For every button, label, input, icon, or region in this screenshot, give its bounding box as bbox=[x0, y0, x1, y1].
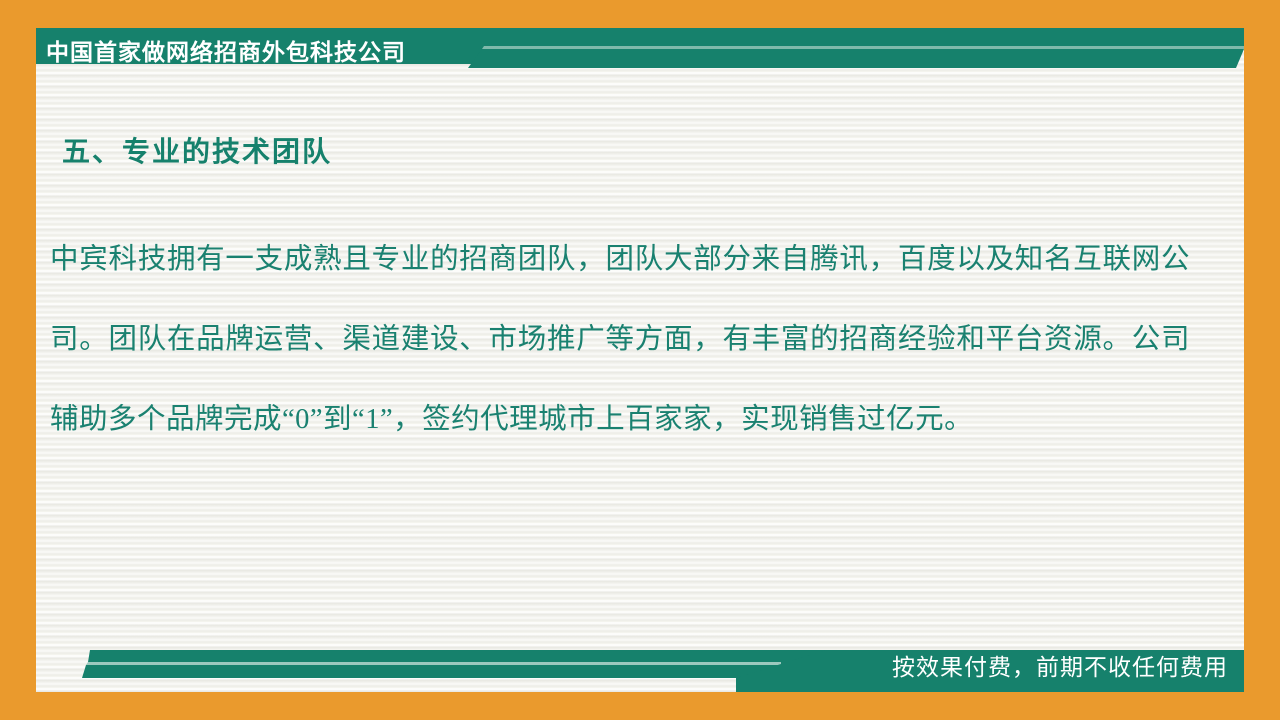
header-stripe-upper bbox=[476, 28, 1244, 46]
header-title: 中国首家做网络招商外包科技公司 bbox=[46, 32, 406, 72]
slide-content: 五、专业的技术团队 中宾科技拥有一支成熟且专业的招商团队，团队大部分来自腾讯，百… bbox=[36, 72, 1244, 628]
slide-canvas: 五、专业的技术团队 中宾科技拥有一支成熟且专业的招商团队，团队大部分来自腾讯，百… bbox=[0, 0, 1280, 720]
header-stripe-lower bbox=[468, 49, 1244, 68]
section-title: 五、专业的技术团队 bbox=[62, 130, 332, 170]
section-body-paragraph: 中宾科技拥有一支成熟且专业的招商团队，团队大部分来自腾讯，百度以及知名互联网公司… bbox=[50, 220, 1190, 460]
header-stripe-divider bbox=[482, 46, 1244, 49]
footer-slogan: 按效果付费，前期不收任何费用 bbox=[892, 648, 1228, 686]
